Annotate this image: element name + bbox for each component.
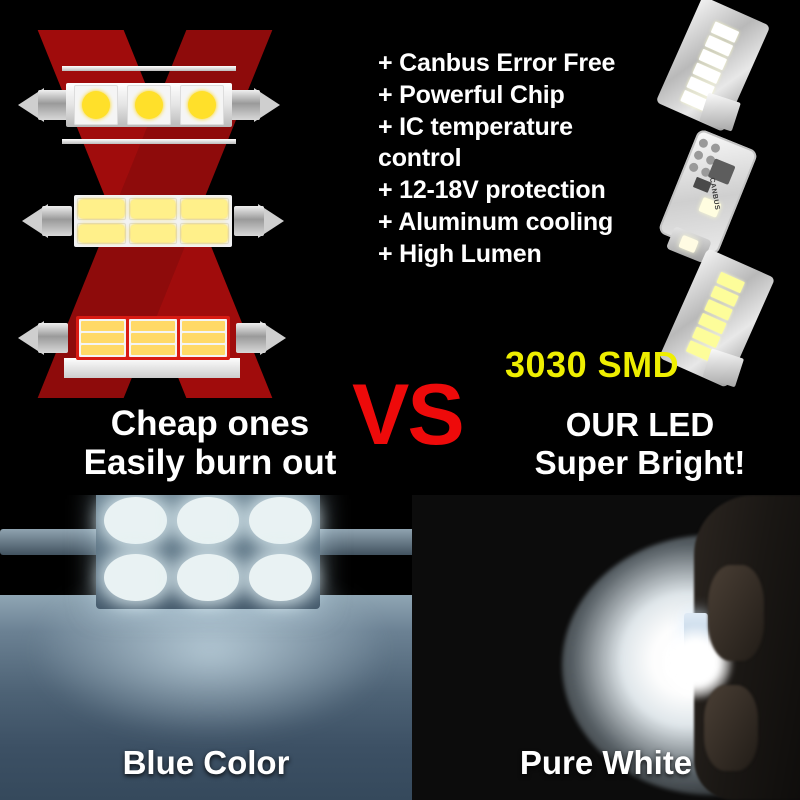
bulb-cap-left [38, 90, 68, 120]
bulb-heatsink [64, 358, 240, 378]
smd-chip [77, 223, 126, 245]
led-dot [104, 554, 167, 601]
bulb-socket-right [316, 529, 412, 555]
our-caption-line2: Super Bright! [505, 444, 775, 482]
feature-item: + Powerful Chip [378, 80, 690, 112]
bulb-cap-right [234, 206, 264, 236]
bulb-rail-top [62, 66, 236, 71]
smd-type-label: 3030 SMD [505, 344, 679, 386]
photo-blue-color: Blue Color [0, 495, 412, 800]
bulb-cap-right [236, 323, 266, 353]
smd-chip [129, 223, 178, 245]
bulb-socket-left [0, 529, 104, 555]
smd-chip-column [79, 319, 126, 357]
feature-item: + Aluminum cooling [378, 207, 690, 239]
photo-pure-white: Pure White [412, 495, 800, 800]
bulb-cap-right [230, 90, 260, 120]
smd-chip [127, 85, 171, 125]
bulb-pcb [74, 195, 232, 247]
bulb-cap-left [42, 206, 72, 236]
cheap-bulb-6-smd [22, 178, 284, 264]
cheap-bulb-red-pcb [18, 292, 286, 384]
cheap-caption-line1: Cheap ones [55, 404, 365, 443]
bulb-rail-bottom [62, 139, 236, 144]
led-dot [104, 497, 167, 544]
smd-chip [180, 198, 229, 220]
our-caption-line1: OUR LED [505, 406, 775, 444]
vs-label: VS [352, 372, 463, 458]
cheap-bulb-3-smd [18, 62, 280, 148]
bulb-cap-left [38, 323, 68, 353]
led-dot-grid [104, 497, 312, 601]
feature-item: + IC temperature [378, 112, 690, 144]
smd-chip [129, 198, 178, 220]
lit-bulb-6-led [96, 495, 320, 609]
smd-chip-column [180, 319, 227, 357]
led-dot [249, 497, 312, 544]
our-side-caption: OUR LED Super Bright! [505, 406, 775, 482]
pure-white-caption: Pure White [412, 744, 800, 782]
smd-chip-column [129, 319, 176, 357]
bulb-pcb [76, 316, 230, 360]
led-dot [177, 497, 240, 544]
smd-chip [74, 85, 118, 125]
cheap-side-caption: Cheap ones Easily burn out [55, 404, 365, 482]
top-comparison-section: + Canbus Error Free + Powerful Chip + IC… [0, 0, 800, 497]
led-dot [177, 554, 240, 601]
feature-list: + Canbus Error Free + Powerful Chip + IC… [378, 48, 690, 270]
feature-item: + High Lumen [378, 239, 690, 271]
cheap-caption-line2: Easily burn out [55, 443, 365, 482]
led-dot [249, 554, 312, 601]
promo-banner: + Canbus Error Free + Powerful Chip + IC… [0, 0, 800, 800]
smd-chip [180, 85, 224, 125]
smd-chip [180, 223, 229, 245]
feature-item: + 12-18V protection [378, 175, 690, 207]
smd-chip [77, 198, 126, 220]
bulb-pcb [66, 83, 232, 127]
finger [708, 565, 764, 661]
blue-color-caption: Blue Color [0, 744, 412, 782]
feature-item-continued: control [378, 143, 690, 175]
feature-item: + Canbus Error Free [378, 48, 690, 80]
